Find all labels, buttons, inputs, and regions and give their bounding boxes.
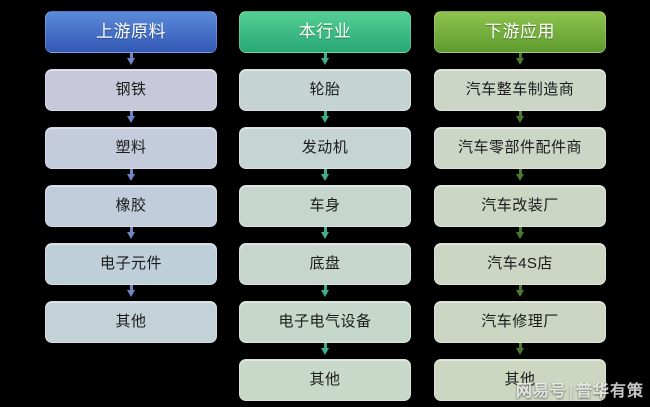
flow-arrow-icon <box>434 343 606 359</box>
column-header-industry[interactable]: 本行业 <box>239 11 411 53</box>
flow-arrow-icon <box>239 53 411 69</box>
node-downstream-2[interactable]: 汽车零部件配件商 <box>434 127 606 169</box>
node-downstream-3[interactable]: 汽车改装厂 <box>434 185 606 227</box>
flow-arrow-icon <box>239 285 411 301</box>
flow-arrow-icon <box>45 53 217 69</box>
node-industry-6[interactable]: 其他 <box>239 359 411 401</box>
flow-arrow-icon <box>239 343 411 359</box>
flow-arrow-icon <box>239 111 411 127</box>
flow-arrow-icon <box>45 285 217 301</box>
node-industry-5[interactable]: 电子电气设备 <box>239 301 411 343</box>
flow-arrow-icon <box>434 227 606 243</box>
node-industry-3[interactable]: 车身 <box>239 185 411 227</box>
flow-arrow-icon <box>434 285 606 301</box>
flow-arrow-icon <box>45 111 217 127</box>
column-header-downstream[interactable]: 下游应用 <box>434 11 606 53</box>
node-downstream-1[interactable]: 汽车整车制造商 <box>434 69 606 111</box>
flow-arrow-icon <box>45 227 217 243</box>
node-upstream-2[interactable]: 塑料 <box>45 127 217 169</box>
node-industry-1[interactable]: 轮胎 <box>239 69 411 111</box>
node-downstream-4[interactable]: 汽车4S店 <box>434 243 606 285</box>
industry-chain-diagram: 上游原料钢铁塑料橡胶电子元件其他本行业轮胎发动机车身底盘电子电气设备其他下游应用… <box>0 0 650 407</box>
flow-arrow-icon <box>239 227 411 243</box>
node-downstream-5[interactable]: 汽车修理厂 <box>434 301 606 343</box>
column-industry: 本行业轮胎发动机车身底盘电子电气设备其他 <box>239 11 411 401</box>
node-downstream-6[interactable]: 其他 <box>434 359 606 401</box>
flow-arrow-icon <box>239 169 411 185</box>
node-industry-2[interactable]: 发动机 <box>239 127 411 169</box>
flow-arrow-icon <box>434 111 606 127</box>
flow-arrow-icon <box>434 169 606 185</box>
column-header-upstream[interactable]: 上游原料 <box>45 11 217 53</box>
column-upstream: 上游原料钢铁塑料橡胶电子元件其他 <box>45 11 217 343</box>
node-upstream-1[interactable]: 钢铁 <box>45 69 217 111</box>
node-industry-4[interactable]: 底盘 <box>239 243 411 285</box>
node-upstream-4[interactable]: 电子元件 <box>45 243 217 285</box>
node-upstream-3[interactable]: 橡胶 <box>45 185 217 227</box>
column-downstream: 下游应用汽车整车制造商汽车零部件配件商汽车改装厂汽车4S店汽车修理厂其他 <box>434 11 606 401</box>
flow-arrow-icon <box>434 53 606 69</box>
node-upstream-5[interactable]: 其他 <box>45 301 217 343</box>
flow-arrow-icon <box>45 169 217 185</box>
